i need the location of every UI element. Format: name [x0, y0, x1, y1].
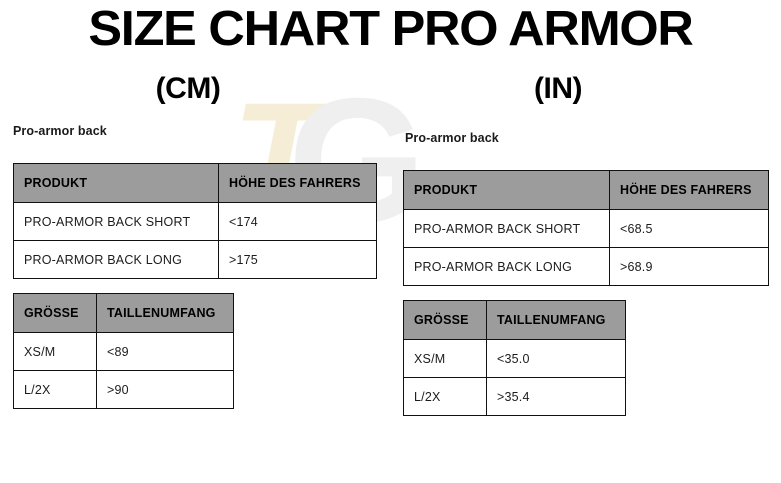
cell-waist: <89	[97, 333, 234, 371]
column-header-hoehe-des-fahrers: HÖHE DES FAHRERS	[610, 171, 769, 210]
table-in-product: PRODUKT HÖHE DES FAHRERS PRO-ARMOR BACK …	[403, 170, 769, 286]
table-row: L/2X >90	[14, 371, 234, 409]
table-cm-product: PRODUKT HÖHE DES FAHRERS PRO-ARMOR BACK …	[13, 163, 377, 279]
table-row: XS/M <35.0	[404, 340, 626, 378]
page-title: SIZE CHART PRO ARMOR	[0, 4, 781, 55]
cell-size: L/2X	[14, 371, 97, 409]
cell-product-name: PRO-ARMOR BACK SHORT	[14, 203, 219, 241]
cell-size: L/2X	[404, 378, 487, 416]
cell-size: XS/M	[14, 333, 97, 371]
cell-size: XS/M	[404, 340, 487, 378]
section-label-in: Pro-armor back	[405, 131, 499, 145]
table-header-row: PRODUKT HÖHE DES FAHRERS	[404, 171, 769, 210]
cell-waist: <35.0	[487, 340, 626, 378]
table-row: PRO-ARMOR BACK LONG >68.9	[404, 248, 769, 286]
table-row: PRO-ARMOR BACK SHORT <68.5	[404, 210, 769, 248]
cell-rider-height: <174	[219, 203, 377, 241]
cell-rider-height: <68.5	[610, 210, 769, 248]
unit-label-cm: (CM)	[138, 72, 238, 106]
section-label-cm: Pro-armor back	[13, 124, 107, 138]
column-header-groesse: GRÖSSE	[14, 294, 97, 333]
cell-waist: >35.4	[487, 378, 626, 416]
column-header-hoehe-des-fahrers: HÖHE DES FAHRERS	[219, 164, 377, 203]
table-cm-size: GRÖSSE TAILLENUMFANG XS/M <89 L/2X >90	[13, 293, 234, 409]
table-header-row: GRÖSSE TAILLENUMFANG	[14, 294, 234, 333]
table-in-size: GRÖSSE TAILLENUMFANG XS/M <35.0 L/2X >35…	[403, 300, 626, 416]
cell-product-name: PRO-ARMOR BACK SHORT	[404, 210, 610, 248]
cell-product-name: PRO-ARMOR BACK LONG	[14, 241, 219, 279]
cell-rider-height: >175	[219, 241, 377, 279]
column-header-taillenumfang: TAILLENUMFANG	[97, 294, 234, 333]
column-header-produkt: PRODUKT	[14, 164, 219, 203]
cell-product-name: PRO-ARMOR BACK LONG	[404, 248, 610, 286]
table-row: PRO-ARMOR BACK SHORT <174	[14, 203, 377, 241]
table-row: XS/M <89	[14, 333, 234, 371]
cell-waist: >90	[97, 371, 234, 409]
cell-rider-height: >68.9	[610, 248, 769, 286]
unit-label-in: (IN)	[508, 72, 608, 106]
column-header-groesse: GRÖSSE	[404, 301, 487, 340]
table-row: PRO-ARMOR BACK LONG >175	[14, 241, 377, 279]
table-header-row: GRÖSSE TAILLENUMFANG	[404, 301, 626, 340]
table-row: L/2X >35.4	[404, 378, 626, 416]
column-header-produkt: PRODUKT	[404, 171, 610, 210]
column-header-taillenumfang: TAILLENUMFANG	[487, 301, 626, 340]
table-header-row: PRODUKT HÖHE DES FAHRERS	[14, 164, 377, 203]
